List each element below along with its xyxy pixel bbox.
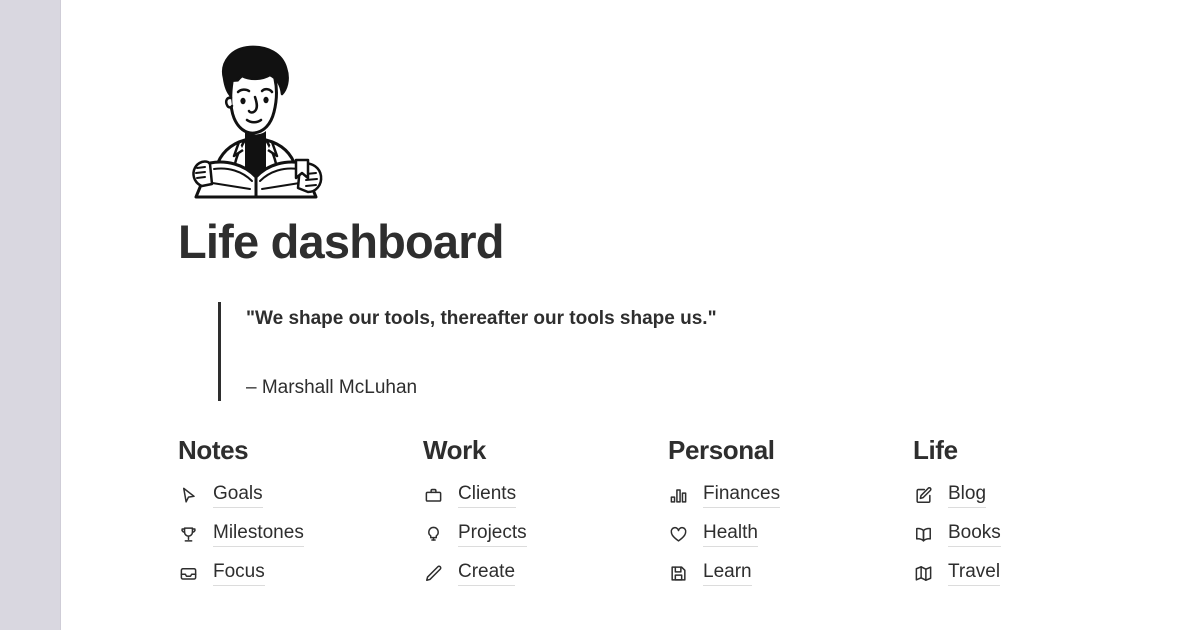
link-label[interactable]: Create: [458, 561, 515, 586]
column-heading: Personal: [668, 434, 913, 466]
page-title: Life dashboard: [178, 214, 1200, 270]
column-personal: Personal Finances Health: [668, 434, 913, 593]
life-dashboard-page: Life dashboard "We shape our tools, ther…: [0, 0, 1200, 630]
link-row[interactable]: Learn: [668, 554, 913, 593]
link-label[interactable]: Health: [703, 522, 758, 547]
lightbulb-icon: [424, 524, 447, 546]
bar-chart-icon: [669, 485, 692, 507]
link-row[interactable]: Health: [668, 515, 913, 554]
link-columns: Notes Goals Milestones: [178, 434, 1188, 593]
person-reading-book-illustration: [178, 0, 338, 172]
column-heading: Life: [913, 434, 1158, 466]
column-heading: Notes: [178, 434, 423, 466]
cursor-arrow-icon: [179, 485, 202, 507]
column-work: Work Clients Projects: [423, 434, 668, 593]
link-label[interactable]: Travel: [948, 561, 1000, 586]
quote-attribution: – Marshall McLuhan: [246, 332, 878, 401]
link-row[interactable]: Create: [423, 554, 668, 593]
link-label[interactable]: Blog: [948, 483, 986, 508]
link-label[interactable]: Learn: [703, 561, 752, 586]
column-life: Life Blog Books T: [913, 434, 1158, 593]
floppy-disk-icon: [669, 563, 692, 585]
link-row[interactable]: Books: [913, 515, 1158, 554]
open-book-icon: [914, 524, 937, 546]
column-notes: Notes Goals Milestones: [178, 434, 423, 593]
link-row[interactable]: Finances: [668, 476, 913, 515]
quote-block: "We shape our tools, thereafter our tool…: [218, 302, 878, 401]
link-label[interactable]: Books: [948, 522, 1001, 547]
link-label[interactable]: Clients: [458, 483, 516, 508]
link-label[interactable]: Focus: [213, 561, 265, 586]
quote-text: "We shape our tools, thereafter our tool…: [246, 302, 878, 332]
link-row[interactable]: Milestones: [178, 515, 423, 554]
link-label[interactable]: Projects: [458, 522, 527, 547]
heart-icon: [669, 524, 692, 546]
folded-map-icon: [914, 563, 937, 585]
inbox-tray-icon: [179, 563, 202, 585]
link-row[interactable]: Blog: [913, 476, 1158, 515]
note-pencil-icon: [914, 485, 937, 507]
link-row[interactable]: Projects: [423, 515, 668, 554]
link-label[interactable]: Finances: [703, 483, 780, 508]
page-content: Life dashboard "We shape our tools, ther…: [61, 0, 1200, 630]
link-row[interactable]: Clients: [423, 476, 668, 515]
column-heading: Work: [423, 434, 668, 466]
pencil-icon: [424, 563, 447, 585]
link-row[interactable]: Goals: [178, 476, 423, 515]
briefcase-icon: [424, 485, 447, 507]
link-label[interactable]: Goals: [213, 483, 263, 508]
link-row[interactable]: Focus: [178, 554, 423, 593]
link-row[interactable]: Travel: [913, 554, 1158, 593]
trophy-icon: [179, 524, 202, 546]
link-label[interactable]: Milestones: [213, 522, 304, 547]
collapsed-sidebar[interactable]: [0, 0, 61, 630]
